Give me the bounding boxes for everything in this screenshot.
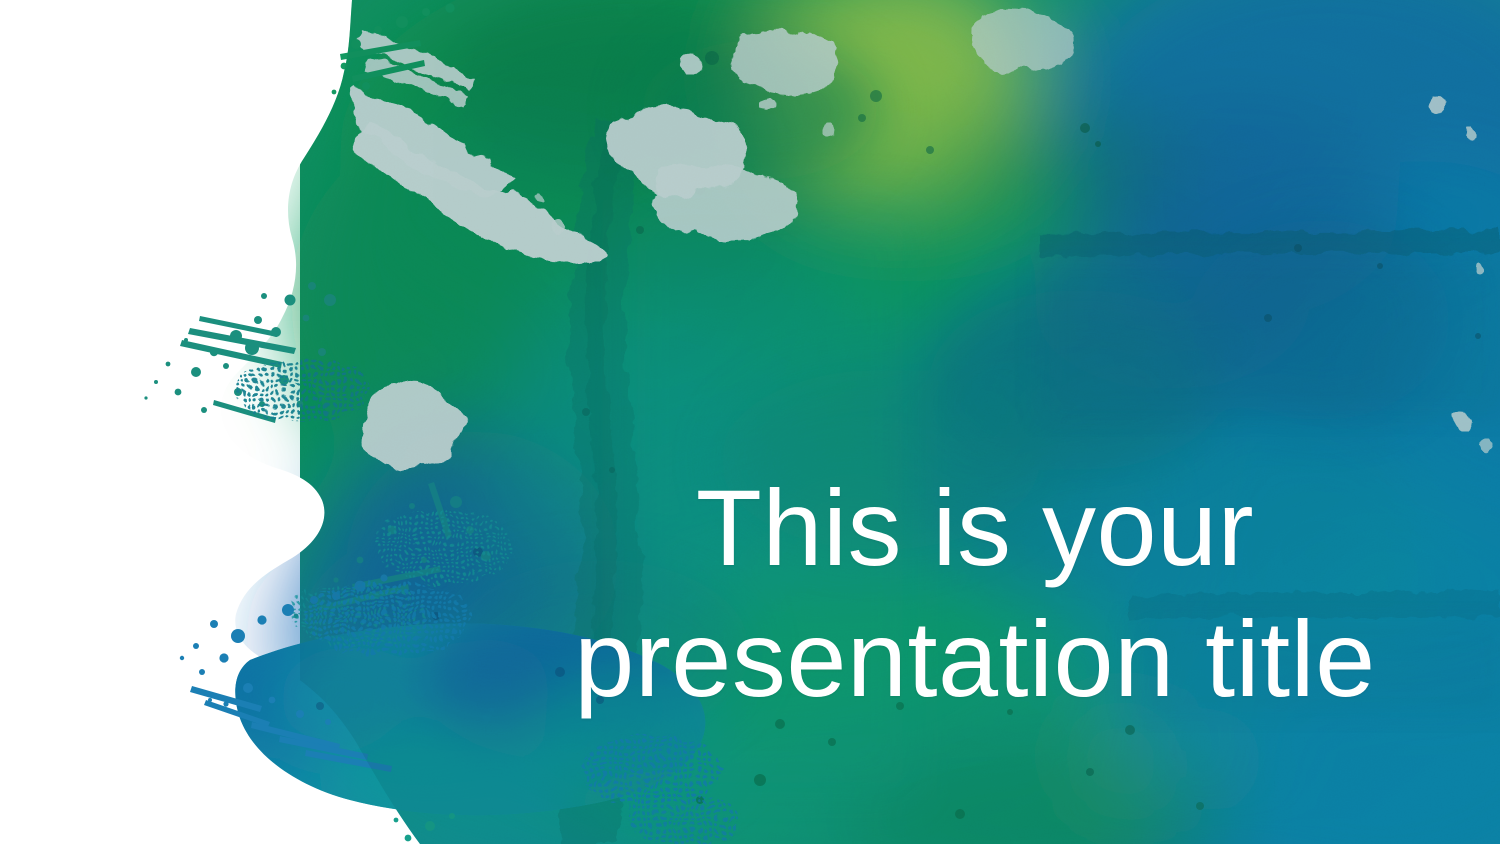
slide-title-line-2: presentation title xyxy=(560,593,1390,724)
slide-title-line-1: This is your xyxy=(560,462,1390,593)
slide-title: This is your presentation title xyxy=(560,462,1390,724)
presentation-slide: This is your presentation title xyxy=(0,0,1500,844)
